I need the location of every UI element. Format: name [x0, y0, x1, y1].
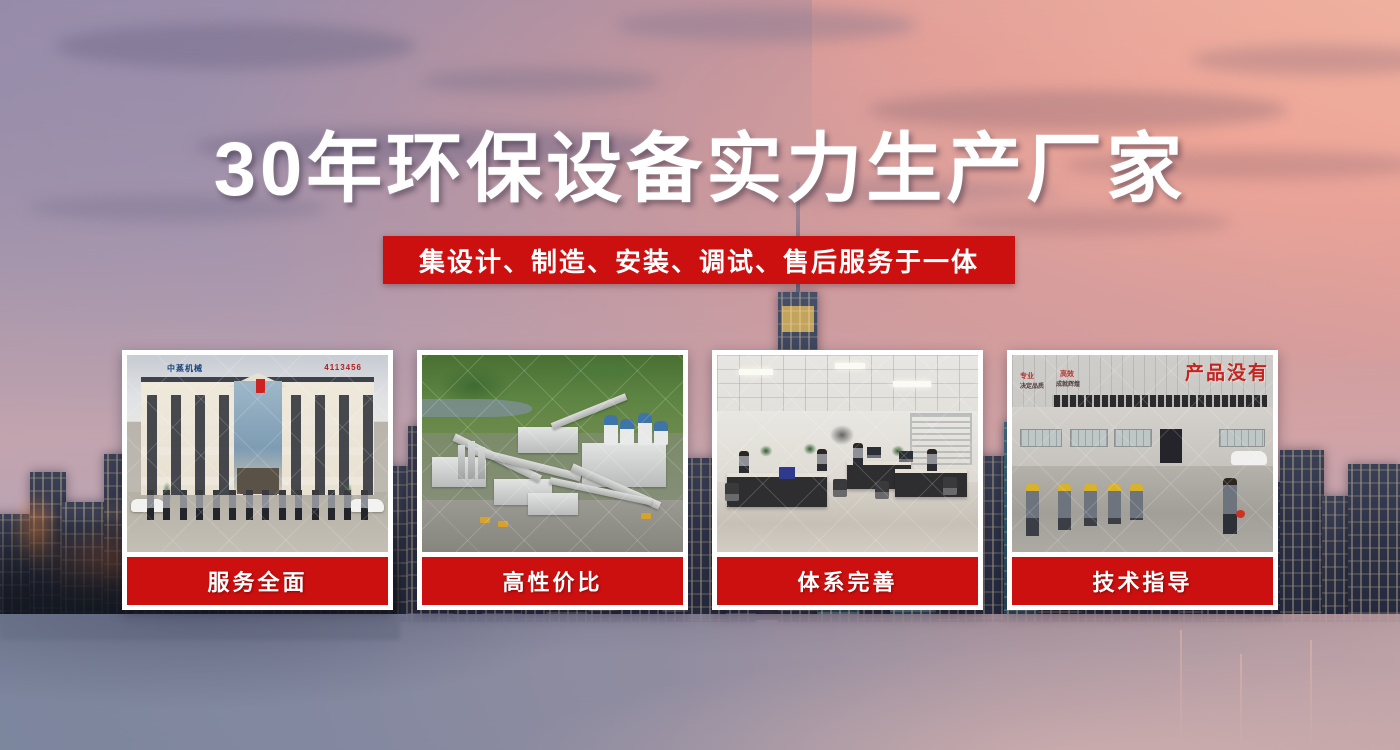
photo-person: [739, 451, 749, 473]
photo-person: [853, 443, 863, 465]
card-caption-text: 技术指导: [1092, 565, 1192, 597]
water-streak: [1180, 630, 1182, 750]
cloud: [868, 90, 1288, 130]
photo-person: [147, 490, 154, 520]
factory-slogan-2: 高效: [1060, 369, 1074, 379]
photo-window: [1020, 429, 1062, 447]
photo-person: [817, 449, 827, 471]
feature-card[interactable]: 中蒸机械 4113456: [122, 350, 393, 610]
photo-factory-door: [1160, 429, 1182, 463]
photo-stack: [468, 441, 475, 479]
photo-excavator: [480, 517, 490, 523]
photo-worker: [1026, 484, 1039, 536]
photo-excavator: [498, 521, 508, 527]
photo-car: [1231, 451, 1267, 465]
tower-crown-light: [782, 306, 814, 332]
cloud: [616, 8, 916, 42]
photo-person: [229, 490, 236, 520]
photo-chair: [943, 477, 957, 495]
card-caption-text: 高性价比: [502, 565, 602, 597]
photo-monitor: [899, 451, 913, 462]
photo-person: [344, 490, 351, 520]
photo-ceiling-light: [893, 381, 931, 387]
card-caption-text: 体系完善: [797, 565, 897, 597]
photo-person: [180, 490, 187, 520]
photo-silo: [638, 413, 652, 445]
photo-worker: [1130, 484, 1143, 520]
photo-window-blinds: [910, 413, 972, 465]
photo-window: [1070, 429, 1108, 447]
company-sign-text: 中蒸机械: [167, 363, 203, 374]
photo-worker: [1058, 484, 1071, 530]
photo-river: [422, 399, 532, 417]
photo-window: [1114, 429, 1152, 447]
photo-monitor: [867, 447, 881, 458]
water-reflection: [0, 614, 1400, 750]
photo-person: [246, 490, 253, 520]
photo-building: [518, 427, 578, 453]
cloud: [952, 210, 1232, 234]
office-interior-staff-photo: [717, 355, 978, 552]
photo-supervisor: [1223, 478, 1237, 534]
photo-window: [1219, 429, 1265, 447]
water-streak: [1240, 654, 1242, 750]
factory-slogan-1: 专业: [1020, 371, 1034, 381]
photo-excavator: [641, 513, 651, 519]
photo-person: [295, 490, 302, 520]
factory-workers-training-photo: 产品没有 专业 决定品质 高效 成就辉煌: [1012, 355, 1273, 552]
photo-chair: [875, 481, 889, 499]
photo-building: [528, 493, 578, 515]
subtitle-banner: 集设计、制造、安装、调试、售后服务于一体: [383, 236, 1015, 284]
feature-card[interactable]: 产品没有 专业 决定品质 高效 成就辉煌: [1007, 350, 1278, 610]
photo-person: [927, 449, 937, 471]
photo-person: [328, 490, 335, 520]
photo-person: [361, 490, 368, 520]
factory-sign-text: 产品没有: [1185, 358, 1269, 385]
photo-silo: [604, 415, 618, 445]
aerial-industrial-plant-photo: [422, 355, 683, 552]
photo-person: [213, 490, 220, 520]
photo-worker: [1084, 484, 1097, 526]
photo-silo: [620, 419, 634, 445]
page-title: 30年环保设备实力生产厂家: [0, 132, 1400, 208]
photo-flag: [256, 379, 265, 393]
card-caption-bar: 技术指导: [1012, 557, 1273, 605]
card-caption-bar: 服务全面: [127, 557, 388, 605]
building: [1280, 450, 1324, 622]
feature-card[interactable]: 高性价比: [417, 350, 688, 610]
photo-ceiling: [717, 355, 978, 411]
photo-person: [196, 490, 203, 520]
photo-staff-row: [147, 486, 368, 520]
feature-card-row: 中蒸机械 4113456: [122, 350, 1278, 610]
building: [1348, 464, 1400, 622]
hero-banner: 30年环保设备实力生产厂家 集设计、制造、安装、调试、售后服务于一体 中蒸机械 …: [0, 0, 1400, 750]
photo-vent-band: [1052, 395, 1267, 407]
factory-slogan-1-sub: 决定品质: [1020, 381, 1044, 390]
photo-red-helmet: [1236, 510, 1245, 518]
photo-person: [279, 490, 286, 520]
photo-person: [312, 490, 319, 520]
photo-desk: [727, 473, 827, 507]
photo-silo: [654, 421, 668, 445]
photo-stack: [478, 447, 485, 479]
photo-chair: [725, 483, 739, 501]
photo-person: [163, 490, 170, 520]
photo-plant-complex: [432, 417, 677, 546]
factory-slogan-2-sub: 成就辉煌: [1056, 379, 1080, 388]
photo-person: [262, 490, 269, 520]
photo-ceiling-light: [739, 369, 773, 375]
office-building-staff-photo: 中蒸机械 4113456: [127, 355, 388, 552]
photo-worker: [1108, 484, 1121, 524]
photo-plant: [757, 443, 775, 459]
photo-stack: [458, 445, 465, 479]
feature-card[interactable]: 体系完善: [712, 350, 983, 610]
company-phone-text: 4113456: [324, 363, 362, 372]
subtitle-text: 集设计、制造、安装、调试、售后服务于一体: [419, 242, 979, 279]
photo-ceiling-light: [835, 363, 865, 369]
cloud: [420, 68, 660, 94]
photo-chair: [833, 479, 847, 497]
card-caption-text: 服务全面: [207, 565, 307, 597]
card-caption-bar: 高性价比: [422, 557, 683, 605]
photo-desk-item: [779, 467, 795, 479]
cloud: [56, 23, 416, 69]
card-caption-bar: 体系完善: [717, 557, 978, 605]
water-streak: [1310, 640, 1312, 750]
